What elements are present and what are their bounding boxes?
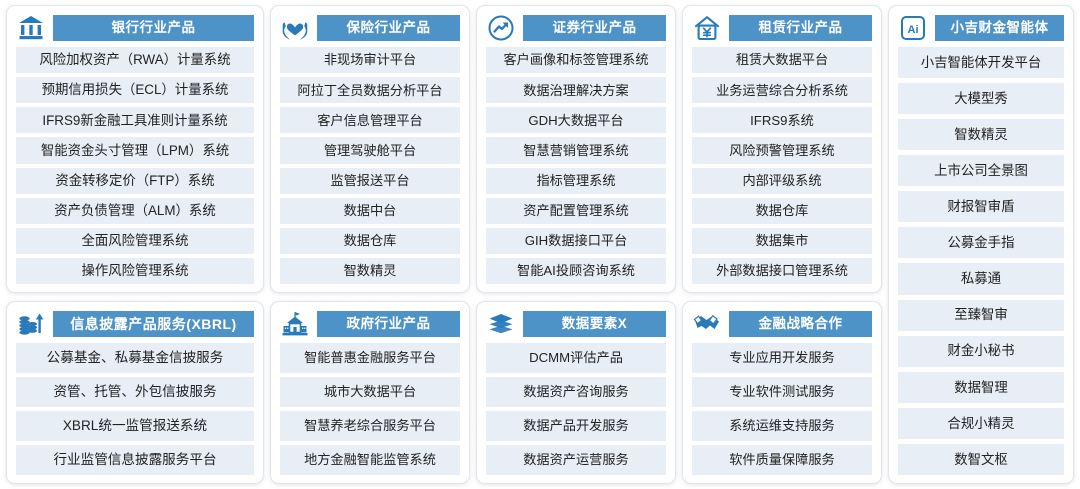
list-item[interactable]: 阿拉丁全员数据分析平台 [280,77,460,103]
card-title: 小吉财金智能体 [935,15,1064,41]
card-item-list: 客户画像和标签管理系统 数据治理解决方案 GDH大数据平台 智慧营销管理系统 指… [486,47,666,284]
card-item-list: 风险加权资产（RWA）计量系统 预期信用损失（ECL）计量系统 IFRS9新金融… [16,47,254,284]
card-item-list: 智能普惠金融服务平台 城市大数据平台 智慧养老综合服务平台 地方金融智能监管系统 [280,343,460,475]
bank-building-icon [16,13,46,43]
card-xbrl-disclosure[interactable]: 信息披露产品服务(XBRL) 公募基金、私募基金信披服务 资管、托管、外包信披服… [6,301,264,484]
card-header: 保险行业产品 [280,13,460,43]
list-item[interactable]: 数据资产咨询服务 [486,377,666,407]
card-ai-agent[interactable]: Ai 小吉财金智能体 小吉智能体开发平台 大模型秀 智数精灵 上市公司全景图 财… [888,5,1074,484]
list-item[interactable]: 客户信息管理平台 [280,107,460,133]
list-item[interactable]: 数据治理解决方案 [486,77,666,103]
card-item-list: 专业应用开发服务 专业软件测试服务 系统运维支持服务 软件质量保障服务 [692,343,872,475]
list-item[interactable]: 财金小秘书 [898,336,1064,367]
coins-growth-icon [16,309,46,339]
list-item[interactable]: XBRL统一监管报送系统 [16,411,254,441]
list-item[interactable]: 风险加权资产（RWA）计量系统 [16,47,254,73]
list-item[interactable]: 数据仓库 [692,198,872,224]
card-bank[interactable]: 银行行业产品 风险加权资产（RWA）计量系统 预期信用损失（ECL）计量系统 I… [6,5,264,293]
list-item[interactable]: 软件质量保障服务 [692,445,872,475]
card-government[interactable]: 政府行业产品 智能普惠金融服务平台 城市大数据平台 智慧养老综合服务平台 地方金… [270,301,470,484]
list-item[interactable]: 专业软件测试服务 [692,377,872,407]
list-item[interactable]: GIH数据接口平台 [486,228,666,254]
card-insurance[interactable]: 保险行业产品 非现场审计平台 阿拉丁全员数据分析平台 客户信息管理平台 管理驾驶… [270,5,470,293]
card-title: 金融战略合作 [729,311,872,337]
list-item[interactable]: 合规小精灵 [898,408,1064,439]
list-item[interactable]: 外部数据接口管理系统 [692,258,872,284]
card-title: 租赁行业产品 [729,15,872,41]
list-item[interactable]: 指标管理系统 [486,168,666,194]
list-item[interactable]: 数据仓库 [280,228,460,254]
card-item-list: 小吉智能体开发平台 大模型秀 智数精灵 上市公司全景图 财报智审盾 公募金手指 … [898,47,1064,475]
list-item[interactable]: 内部评级系统 [692,168,872,194]
list-item[interactable]: 公募金手指 [898,227,1064,258]
card-item-list: DCMM评估产品 数据资产咨询服务 数据产品开发服务 数据资产运营服务 [486,343,666,475]
list-item[interactable]: 操作风险管理系统 [16,258,254,284]
card-header: Ai 小吉财金智能体 [898,13,1064,43]
list-item[interactable]: 数据资产运营服务 [486,445,666,475]
list-item[interactable]: 资产配置管理系统 [486,198,666,224]
card-title: 数据要素X [523,311,666,337]
government-building-icon [280,309,310,339]
list-item[interactable]: 管理驾驶舱平台 [280,137,460,163]
list-item[interactable]: 智慧营销管理系统 [486,137,666,163]
card-leasing[interactable]: 租赁行业产品 租赁大数据平台 业务运营综合分析系统 IFRS9系统 风险预警管理… [682,5,882,293]
list-item[interactable]: 上市公司全景图 [898,155,1064,186]
card-title: 政府行业产品 [317,311,460,337]
list-item[interactable]: 大模型秀 [898,83,1064,114]
list-item[interactable]: 地方金融智能监管系统 [280,445,460,475]
card-title: 银行行业产品 [53,15,254,41]
list-item[interactable]: 全面风险管理系统 [16,228,254,254]
list-item[interactable]: 预期信用损失（ECL）计量系统 [16,77,254,103]
list-item[interactable]: 风险预警管理系统 [692,137,872,163]
card-header: 租赁行业产品 [692,13,872,43]
list-item[interactable]: 数据中台 [280,198,460,224]
list-item[interactable]: 监管报送平台 [280,168,460,194]
card-header: 金融战略合作 [692,309,872,339]
list-item[interactable]: 公募基金、私募基金信披服务 [16,343,254,373]
list-item[interactable]: 租赁大数据平台 [692,47,872,73]
list-item[interactable]: 资管、托管、外包信披服务 [16,377,254,407]
list-item[interactable]: 财报智审盾 [898,191,1064,222]
ai-badge-icon: Ai [898,13,928,43]
card-header: 信息披露产品服务(XBRL) [16,309,254,339]
handshake-icon [692,309,722,339]
list-item[interactable]: 智慧养老综合服务平台 [280,411,460,441]
card-title: 保险行业产品 [317,15,460,41]
list-item[interactable]: 数据产品开发服务 [486,411,666,441]
stacked-layers-icon [486,309,516,339]
list-item[interactable]: 业务运营综合分析系统 [692,77,872,103]
list-item[interactable]: 私募通 [898,263,1064,294]
list-item[interactable]: 智能AI投顾咨询系统 [486,258,666,284]
card-data-element-x[interactable]: 数据要素X DCMM评估产品 数据资产咨询服务 数据产品开发服务 数据资产运营服… [476,301,676,484]
heart-in-hands-icon [280,13,310,43]
list-item[interactable]: 至臻智审 [898,300,1064,331]
list-item[interactable]: IFRS9系统 [692,107,872,133]
list-item[interactable]: 数据集市 [692,228,872,254]
card-title: 证券行业产品 [523,15,666,41]
card-item-list: 公募基金、私募基金信披服务 资管、托管、外包信披服务 XBRL统一监管报送系统 … [16,343,254,475]
card-title: 信息披露产品服务(XBRL) [53,311,254,337]
card-item-list: 租赁大数据平台 业务运营综合分析系统 IFRS9系统 风险预警管理系统 内部评级… [692,47,872,284]
card-header: 证券行业产品 [486,13,666,43]
card-item-list: 非现场审计平台 阿拉丁全员数据分析平台 客户信息管理平台 管理驾驶舱平台 监管报… [280,47,460,284]
list-item[interactable]: 智数精灵 [898,119,1064,150]
product-matrix-board: 银行行业产品 风险加权资产（RWA）计量系统 预期信用损失（ECL）计量系统 I… [0,0,1080,489]
list-item[interactable]: 智能普惠金融服务平台 [280,343,460,373]
card-header: 数据要素X [486,309,666,339]
list-item[interactable]: 城市大数据平台 [280,377,460,407]
trend-arrow-circle-icon [486,13,516,43]
list-item[interactable]: 智能资金头寸管理（LPM）系统 [16,137,254,163]
card-header: 政府行业产品 [280,309,460,339]
card-header: 银行行业产品 [16,13,254,43]
list-item[interactable]: 数智文枢 [898,444,1064,475]
card-securities[interactable]: 证券行业产品 客户画像和标签管理系统 数据治理解决方案 GDH大数据平台 智慧营… [476,5,676,293]
card-strategic-alliance[interactable]: 金融战略合作 专业应用开发服务 专业软件测试服务 系统运维支持服务 软件质量保障… [682,301,882,484]
house-yuan-icon [692,13,722,43]
list-item[interactable]: DCMM评估产品 [486,343,666,373]
list-item[interactable]: 资金转移定价（FTP）系统 [16,168,254,194]
list-item[interactable]: 资产负债管理（ALM）系统 [16,198,254,224]
list-item[interactable]: 数据智理 [898,372,1064,403]
svg-text:Ai: Ai [908,24,919,36]
list-item[interactable]: 行业监管信息披露服务平台 [16,445,254,475]
list-item[interactable]: 非现场审计平台 [280,47,460,73]
list-item[interactable]: IFRS9新金融工具准则计量系统 [16,107,254,133]
list-item[interactable]: GDH大数据平台 [486,107,666,133]
list-item[interactable]: 小吉智能体开发平台 [898,47,1064,78]
list-item[interactable]: 专业应用开发服务 [692,343,872,373]
list-item[interactable]: 客户画像和标签管理系统 [486,47,666,73]
list-item[interactable]: 系统运维支持服务 [692,411,872,441]
list-item[interactable]: 智数精灵 [280,258,460,284]
